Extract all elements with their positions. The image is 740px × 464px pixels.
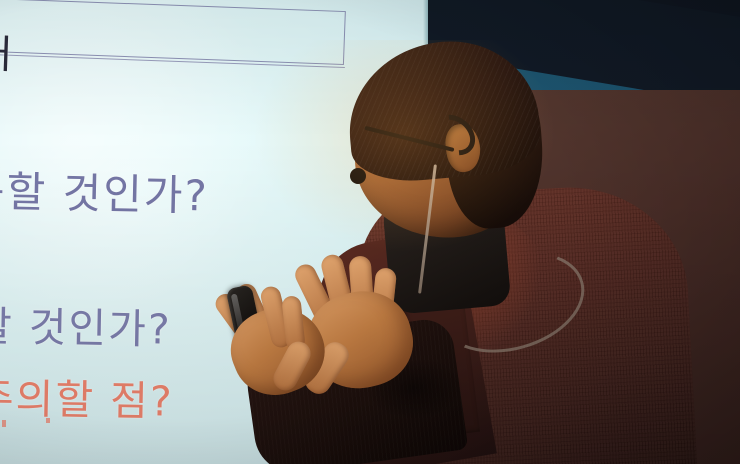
- slide-text-line-1: 용할 것인가?: [0, 157, 209, 223]
- speaker: [250, 40, 680, 464]
- slide-text-line-2: 할 것인가?: [0, 292, 172, 355]
- slide-speck: [2, 420, 6, 427]
- hair-texture: [342, 34, 543, 186]
- slide-text-line-3-emphasis: 주의할 점?: [0, 364, 174, 427]
- slide-text-fragment-top: ㅓ: [0, 21, 24, 80]
- slide-speck: [46, 418, 50, 423]
- photo-stage: ㅓ ? 용할 것인가? 할 것인가? 주의할 점?: [0, 0, 740, 464]
- headset-microphone-icon: [350, 168, 366, 184]
- hair: [342, 34, 543, 186]
